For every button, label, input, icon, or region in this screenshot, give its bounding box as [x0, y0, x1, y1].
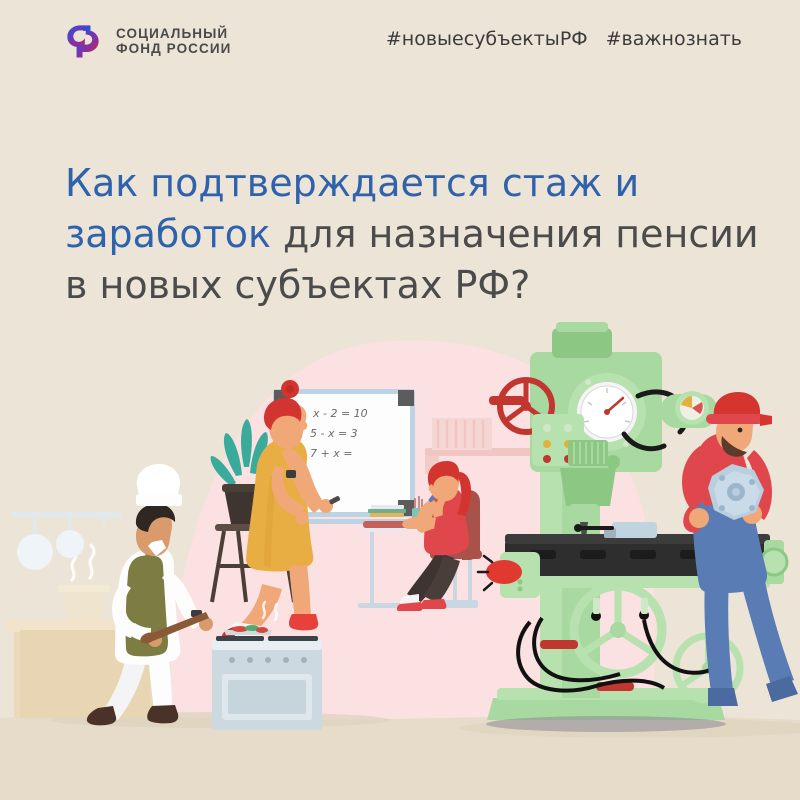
- logo-text: СОЦИАЛЬНЫЙ ФОНД РОССИИ: [116, 26, 231, 56]
- hashtag-2[interactable]: #важнознать: [606, 28, 742, 50]
- page-title: Как подтверждается стаж и заработок для …: [65, 158, 775, 311]
- sfr-logo-icon: [60, 18, 106, 64]
- illustration-scene: x - 2 = 10 5 - x = 3 7 + x =: [0, 300, 800, 800]
- logo-line-2: ФОНД РОССИИ: [116, 41, 231, 56]
- logo[interactable]: СОЦИАЛЬНЫЙ ФОНД РОССИИ: [60, 18, 231, 64]
- logo-line-1: СОЦИАЛЬНЫЙ: [116, 26, 231, 41]
- hashtag-1[interactable]: #новыесубъектыРФ: [386, 28, 588, 50]
- svg-text:7 + x =: 7 + x =: [310, 447, 352, 460]
- hashtag-list: #новыесубъектыРФ #важнознать: [386, 28, 742, 50]
- header: СОЦИАЛЬНЫЙ ФОНД РОССИИ #новыесубъектыРФ …: [0, 0, 800, 100]
- svg-text:5 - x = 3: 5 - x = 3: [310, 427, 358, 440]
- svg-text:x - 2 = 10: x - 2 = 10: [312, 407, 368, 420]
- poster-root: x - 2 = 10 5 - x = 3 7 + x =: [0, 0, 800, 800]
